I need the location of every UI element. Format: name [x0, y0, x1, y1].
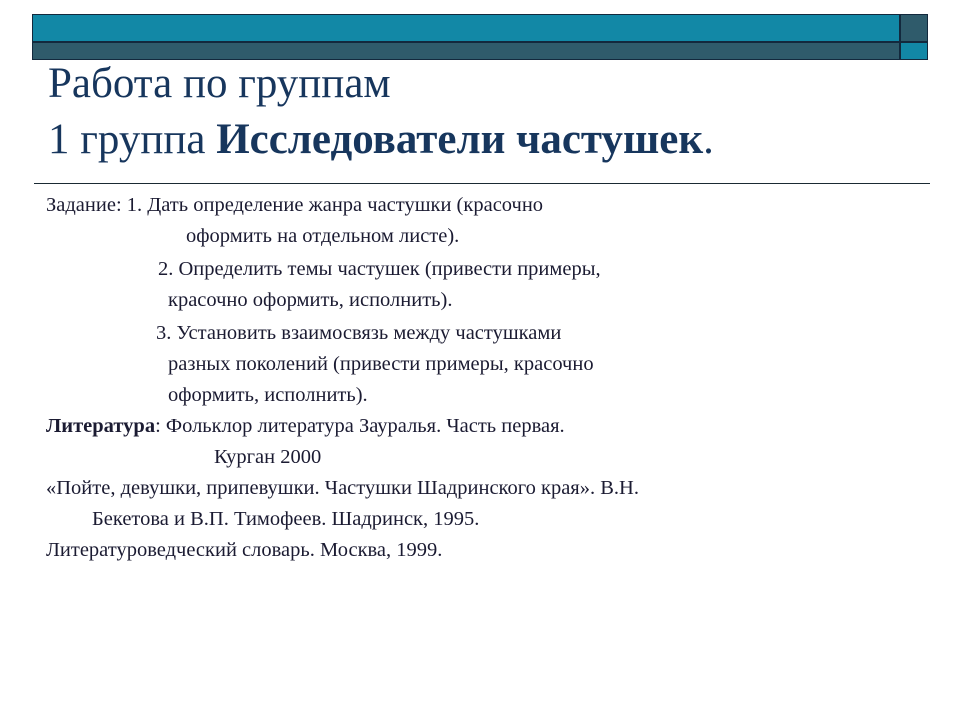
- slide-title-line-2: 1 группа Исследователи частушек.: [48, 112, 928, 168]
- header-bar-top-row: [32, 14, 928, 42]
- header-bar-top-long: [32, 14, 900, 42]
- presentation-slide: Работа по группам 1 группа Исследователи…: [0, 0, 960, 720]
- task-line-5: 3. Установить взаимосвязь между частушка…: [46, 318, 946, 349]
- slide-title-group-prefix: 1 группа: [48, 116, 216, 163]
- literature-entry-1-line-1: Фольклор литература Зауралья. Часть перв…: [166, 415, 565, 437]
- task-line-4: красочно оформить, исполнить).: [46, 285, 946, 316]
- literature-entry-1-line-2: Курган 2000: [46, 442, 946, 473]
- task-line-2: оформить на отдельном листе).: [46, 221, 946, 252]
- literature-entry-2-line-2: Бекетова и В.П. Тимофеев. Шадринск, 1995…: [46, 504, 946, 535]
- literature-entry-2-line-1: «Пойте, девушки, припевушки. Частушки Ша…: [46, 473, 946, 504]
- literature-label: Литература: [46, 415, 155, 437]
- task-line-7: оформить, исполнить).: [46, 380, 946, 411]
- literature-heading-line: Литература: Фольклор литература Зауралья…: [46, 411, 946, 442]
- title-divider-rule: [34, 183, 930, 184]
- slide-title-group-name: Исследователи частушек: [216, 116, 703, 163]
- slide-header-decoration: [32, 14, 928, 60]
- task-line-1: Задание: 1. Дать определение жанра часту…: [46, 190, 946, 221]
- slide-title: Работа по группам 1 группа Исследователи…: [48, 56, 928, 168]
- slide-body: Задание: 1. Дать определение жанра часту…: [46, 190, 946, 566]
- slide-title-line-1: Работа по группам: [48, 56, 928, 112]
- literature-entry-3-line-1: Литературоведческий словарь. Москва, 199…: [46, 535, 946, 566]
- slide-title-period: .: [703, 116, 714, 163]
- task-line-6: разных поколений (привести примеры, крас…: [46, 349, 946, 380]
- literature-label-separator: :: [155, 415, 166, 437]
- task-line-3: 2. Определить темы частушек (привести пр…: [46, 254, 946, 285]
- header-bar-top-square: [900, 14, 928, 42]
